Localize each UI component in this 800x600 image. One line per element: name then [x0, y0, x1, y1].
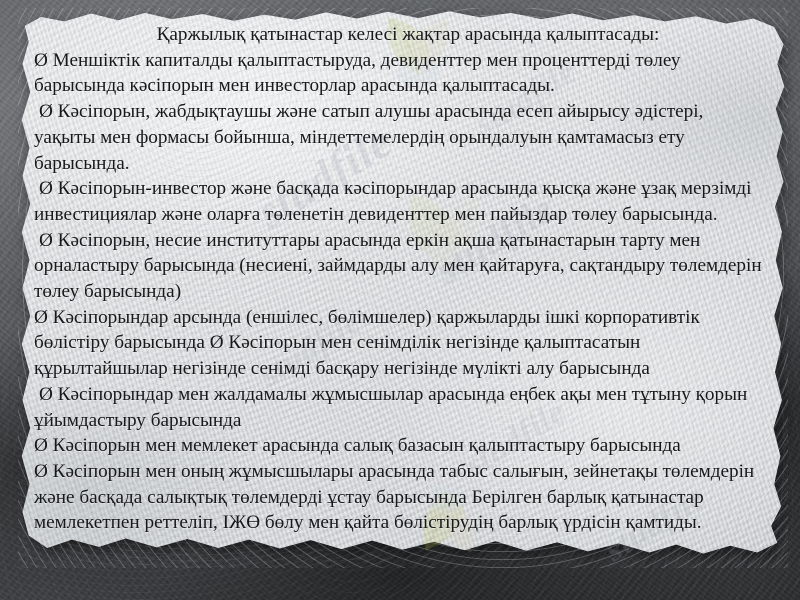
bullet-paragraph-4: Ø Кәсіпорын, несие институттары арасында… — [34, 228, 764, 305]
bullet-paragraph-3: Ø Кәсіпорын-инвестор және басқада кәсіпо… — [34, 176, 764, 227]
bullet-paragraph-2: Ø Кәсіпорын, жабдықтаушы және сатып алуш… — [34, 99, 764, 176]
bullet-paragraph-1: Ø Меншіктік капиталды қалыптастыруда, де… — [34, 48, 764, 99]
bullet-paragraph-5: Ø Кәсіпорындар арсында (еншілес, бөлімше… — [34, 305, 764, 382]
slide-title: Қаржылық қатынастар келесі жақтар арасын… — [34, 22, 764, 48]
bullet-paragraph-6: Ø Кәсіпорындар мен жалдамалы жұмысшылар … — [34, 382, 764, 433]
slide-canvas: studfile studfile studfile studfile stud… — [0, 0, 800, 600]
slide-text-body: Қаржылық қатынастар келесі жақтар арасын… — [34, 22, 764, 536]
bullet-paragraph-8: Ø Кәсіпорын мен оның жұмысшылары арасынд… — [34, 459, 764, 536]
bullet-paragraph-7: Ø Кәсіпорын мен мемлекет арасында салық … — [34, 433, 764, 459]
